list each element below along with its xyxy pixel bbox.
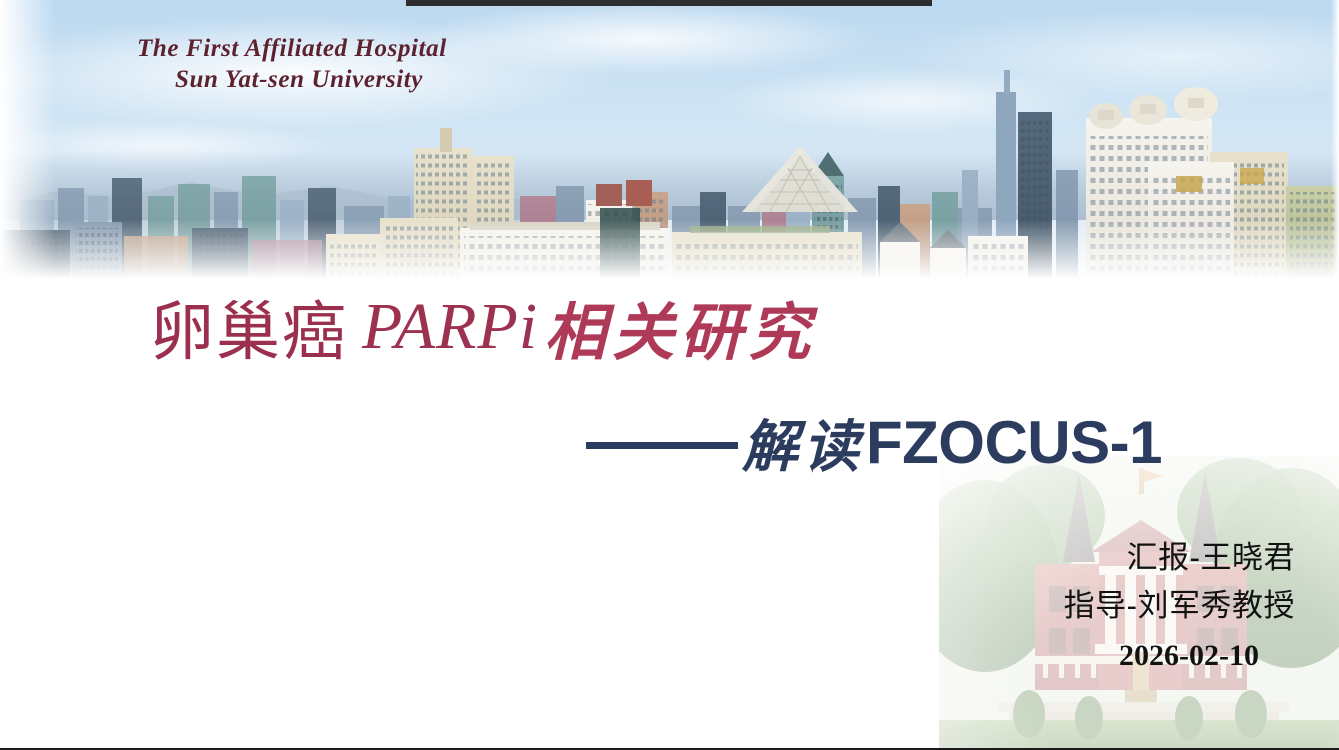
supervisor-line: 指导-刘军秀教授 bbox=[1064, 582, 1295, 630]
top-dark-strip bbox=[406, 0, 932, 6]
presenter-line: 汇报-王晓君 bbox=[1064, 534, 1295, 582]
title-part-cn-1: 卵巢癌 bbox=[150, 296, 348, 370]
hospital-wordmark: The First Affiliated Hospital Sun Yat-se… bbox=[137, 34, 447, 95]
title-part-en: PARPi bbox=[348, 290, 544, 363]
title-slide: The First Affiliated Hospital Sun Yat-se… bbox=[0, 0, 1339, 750]
author-block: 汇报-王晓君 指导-刘军秀教授 2026-02-10 bbox=[1064, 534, 1295, 680]
wordmark-line-1: The First Affiliated Hospital bbox=[137, 34, 447, 65]
wordmark-line-2: Sun Yat-sen University bbox=[137, 65, 447, 96]
subtitle-cn: 解读 bbox=[742, 402, 864, 483]
page-title: 卵巢癌PARPi相关研究 bbox=[150, 281, 816, 373]
header-photo-banner: The First Affiliated Hospital Sun Yat-se… bbox=[0, 0, 1339, 280]
title-part-cn-2: 相关研究 bbox=[544, 296, 816, 369]
subtitle-en: FZOCUS-1 bbox=[866, 408, 1162, 477]
presentation-date: 2026-02-10 bbox=[1064, 632, 1259, 680]
em-dash-rule bbox=[586, 442, 738, 449]
page-subtitle: 解读 FZOCUS-1 bbox=[586, 402, 1162, 483]
